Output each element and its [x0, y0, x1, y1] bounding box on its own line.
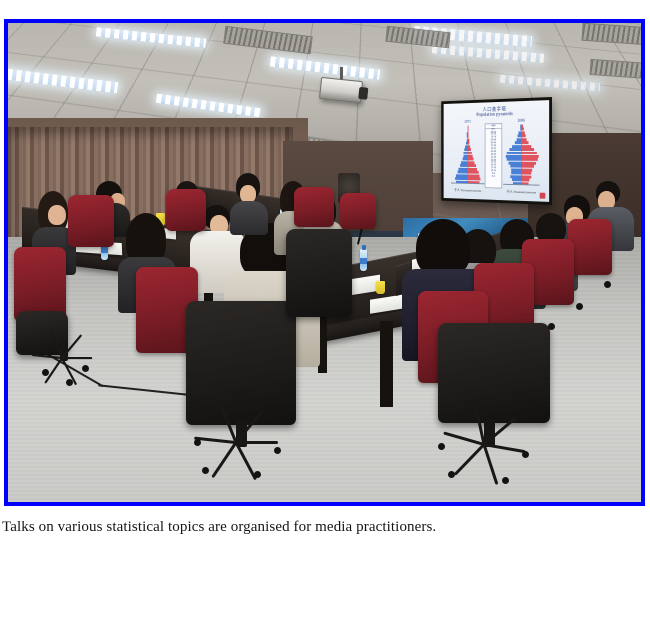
chair-red: [568, 219, 612, 275]
pyramid-bars-1971: [451, 125, 485, 126]
pyramid-year-label: 1971: [451, 119, 485, 124]
chair-caster: [82, 365, 89, 372]
age-group-column: Age 85+80-8475-7970-7465-6960-6455-5950-…: [485, 123, 503, 189]
seminar-room-photo: 人口金字塔 Population pyramids 1971 千人 Thousa…: [8, 23, 641, 502]
population-pyramid-1971: 1971 千人 Thousand persons: [451, 125, 485, 184]
chair-caster: [194, 439, 201, 446]
pyramid-footer-label: 千人 Thousand persons: [503, 189, 540, 195]
chair-caster: [438, 443, 445, 450]
chair-red: [14, 247, 66, 321]
photo-caption: Talks on various statistical topics are …: [2, 519, 436, 536]
pyramid-year-label: 2006: [503, 117, 540, 123]
chair-red: [68, 195, 114, 247]
paper-cup: [376, 281, 385, 294]
chair-caster: [548, 323, 555, 330]
head: [48, 205, 66, 225]
chair-caster: [42, 369, 49, 376]
chair-caster: [66, 379, 73, 386]
torso: [230, 201, 268, 235]
pyramid-bars-2006: [503, 124, 540, 125]
pyramid-bar-male: [513, 182, 521, 185]
page-root: 人口金字塔 Population pyramids 1971 千人 Thousa…: [0, 0, 650, 628]
pyramid-bar-female: [521, 182, 528, 185]
chair-red: [294, 187, 334, 227]
pyramid-bar-female: [521, 145, 531, 148]
table-leg: [380, 321, 393, 407]
screen-logo: [540, 193, 546, 199]
pyramid-bar-male: [456, 180, 468, 183]
water-bottle: [360, 249, 367, 271]
chair-caster: [202, 467, 209, 474]
chair-red: [340, 193, 376, 229]
chair-caster: [254, 471, 261, 478]
chair-black: [186, 301, 296, 425]
chair-caster: [448, 471, 455, 478]
chair-black: [438, 323, 550, 423]
photo-frame: 人口金字塔 Population pyramids 1971 千人 Thousa…: [4, 19, 645, 506]
ceiling-projector: [319, 77, 363, 103]
chair-red: [166, 189, 206, 231]
pyramid-bar-female: [521, 148, 534, 151]
pyramid-footer-label: 千人 Thousand persons: [451, 187, 485, 193]
chair-black: [286, 229, 352, 317]
pyramid-bar-female: [468, 181, 480, 184]
projection-screen-frame: 人口金字塔 Population pyramids 1971 千人 Thousa…: [441, 97, 552, 205]
chair-caster: [274, 447, 281, 454]
pyramid-bar-male: [512, 145, 521, 148]
chair-caster: [522, 451, 529, 458]
chair-caster: [576, 303, 583, 310]
chair-caster: [604, 281, 611, 288]
age-group-tick: 0-4: [486, 176, 502, 179]
projection-screen: 人口金字塔 Population pyramids 1971 千人 Thousa…: [444, 100, 549, 202]
chair-caster: [502, 477, 509, 484]
population-pyramid-2006: 2006 千人 Thousand persons: [503, 124, 540, 185]
